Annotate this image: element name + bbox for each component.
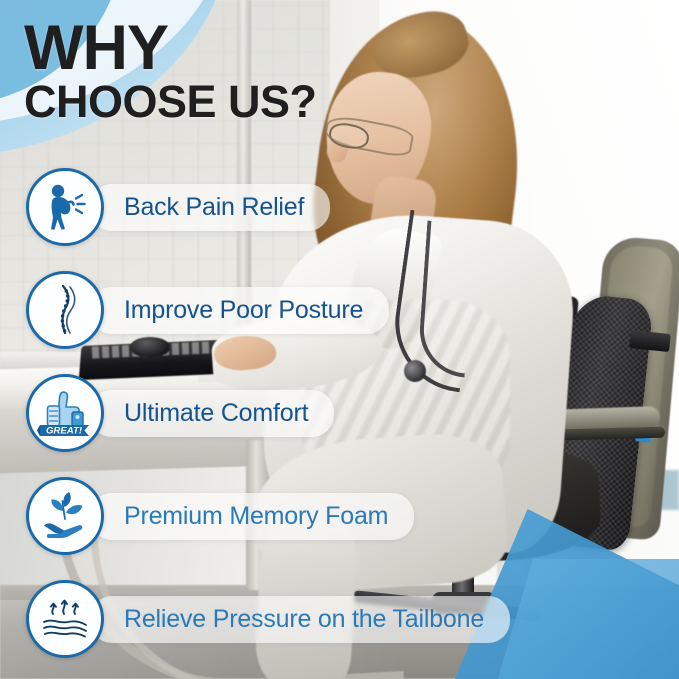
thumbs-up-great-icon: GREAT! — [26, 374, 104, 452]
spine-posture-icon — [26, 271, 104, 349]
feature-list: Back Pain Relief — [0, 0, 679, 679]
feature-label: Relieve Pressure on the Tailbone — [124, 605, 484, 633]
feature-pill: Back Pain Relief — [90, 184, 330, 231]
hand-holding-plant-icon — [26, 477, 104, 555]
feature-row-back-pain-relief: Back Pain Relief — [26, 168, 330, 246]
feature-pill: Ultimate Comfort — [90, 390, 334, 437]
feature-pill: Improve Poor Posture — [90, 287, 389, 334]
great-badge-text: GREAT! — [46, 425, 83, 436]
infographic-canvas: WHY CHOOSE US? Back Pain Relief — [0, 0, 679, 679]
feature-pill: Premium Memory Foam — [90, 493, 414, 540]
feature-label: Improve Poor Posture — [124, 296, 363, 324]
feature-label: Back Pain Relief — [124, 193, 304, 221]
feature-row-improve-poor-posture: Improve Poor Posture — [26, 271, 389, 349]
feature-label: Premium Memory Foam — [124, 502, 388, 530]
feature-row-ultimate-comfort: GREAT! Ultimate Comfort — [26, 374, 334, 452]
airflow-waves-icon — [26, 580, 104, 658]
feature-row-premium-memory-foam: Premium Memory Foam — [26, 477, 414, 555]
feature-pill: Relieve Pressure on the Tailbone — [90, 596, 510, 643]
feature-row-relieve-pressure-tailbone: Relieve Pressure on the Tailbone — [26, 580, 510, 658]
feature-label: Ultimate Comfort — [124, 399, 308, 427]
back-pain-person-icon — [26, 168, 104, 246]
